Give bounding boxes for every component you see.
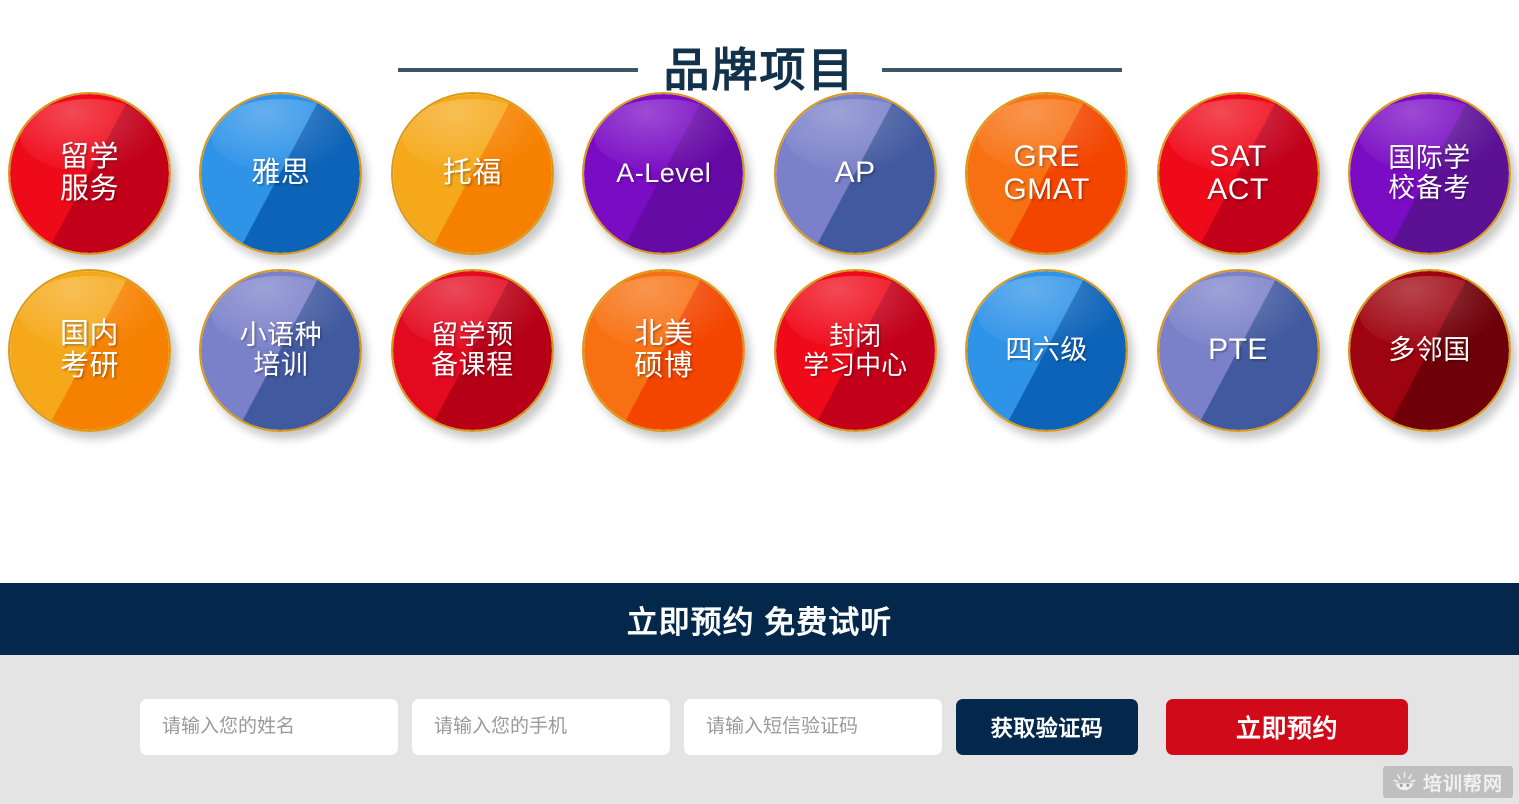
badge-tuofu[interactable]: 托福: [391, 92, 554, 255]
badge-label: 托福: [441, 158, 504, 189]
badge-pte[interactable]: PTE: [1157, 269, 1320, 432]
watermark: 培训帮网: [1383, 766, 1513, 798]
badge-ap[interactable]: AP: [774, 92, 937, 255]
badge-guoji-xuexiao[interactable]: 国际学 校备考: [1348, 92, 1511, 255]
badge-xiaoyuzhong[interactable]: 小语种 培训: [199, 269, 362, 432]
badge-guonei-kaoyan[interactable]: 国内 考研: [8, 269, 171, 432]
badge-sat-act[interactable]: SAT ACT: [1157, 92, 1320, 255]
badge-label: SAT ACT: [1205, 141, 1271, 206]
badge-label: GRE GMAT: [1001, 141, 1091, 206]
badge-label: 国内 考研: [58, 319, 121, 382]
badge-label: 小语种 培训: [238, 321, 325, 379]
cta-banner-text: 立即预约 免费试听: [627, 597, 893, 642]
badge-label: 四六级: [1003, 336, 1090, 365]
program-badge-row-1: 留学 服务雅思托福A-LevelAPGRE GMATSAT ACT国际学 校备考: [0, 92, 1519, 255]
badge-a-level[interactable]: A-Level: [582, 92, 745, 255]
program-badge-grid: 留学 服务雅思托福A-LevelAPGRE GMATSAT ACT国际学 校备考…: [0, 78, 1519, 432]
title-rule-left: [398, 68, 638, 72]
badge-liuxue-yubei[interactable]: 留学预 备课程: [391, 269, 554, 432]
badge-label: 留学 服务: [58, 142, 121, 205]
phone-input[interactable]: [412, 699, 670, 755]
badge-gre-gmat[interactable]: GRE GMAT: [965, 92, 1128, 255]
cta-banner: 立即预约 免费试听: [0, 583, 1519, 655]
badge-label: 北美 硕博: [632, 319, 695, 382]
badge-label: 留学预 备课程: [429, 321, 516, 379]
submit-booking-button[interactable]: 立即预约: [1166, 699, 1408, 755]
name-input[interactable]: [140, 699, 398, 755]
badge-yasi[interactable]: 雅思: [199, 92, 362, 255]
badge-siliuji[interactable]: 四六级: [965, 269, 1128, 432]
page-title-row: 品牌项目: [0, 0, 1519, 78]
badge-label: 封闭 学习中心: [801, 322, 909, 378]
badge-fengbi-zhongxin[interactable]: 封闭 学习中心: [774, 269, 937, 432]
badge-label: A-Level: [614, 159, 713, 188]
sun-face-icon: [1393, 772, 1416, 793]
badge-label: PTE: [1206, 334, 1270, 366]
badge-duolinguo[interactable]: 多邻国: [1348, 269, 1511, 432]
get-code-button[interactable]: 获取验证码: [956, 699, 1138, 755]
badge-label: 多邻国: [1386, 336, 1473, 365]
program-badge-row-2: 国内 考研小语种 培训留学预 备课程北美 硕博封闭 学习中心四六级PTE多邻国: [0, 269, 1519, 432]
badge-beimei-shuobo[interactable]: 北美 硕博: [582, 269, 745, 432]
badge-label: AP: [833, 157, 878, 189]
title-rule-right: [882, 68, 1122, 72]
badge-label: 雅思: [249, 158, 312, 189]
booking-form: 获取验证码 立即预约: [0, 655, 1519, 755]
watermark-text: 培训帮网: [1423, 769, 1503, 796]
badge-label: 国际学 校备考: [1386, 144, 1473, 202]
sms-code-input[interactable]: [684, 699, 942, 755]
booking-form-area: 获取验证码 立即预约: [0, 655, 1519, 804]
badge-liuxue-fuwu[interactable]: 留学 服务: [8, 92, 171, 255]
